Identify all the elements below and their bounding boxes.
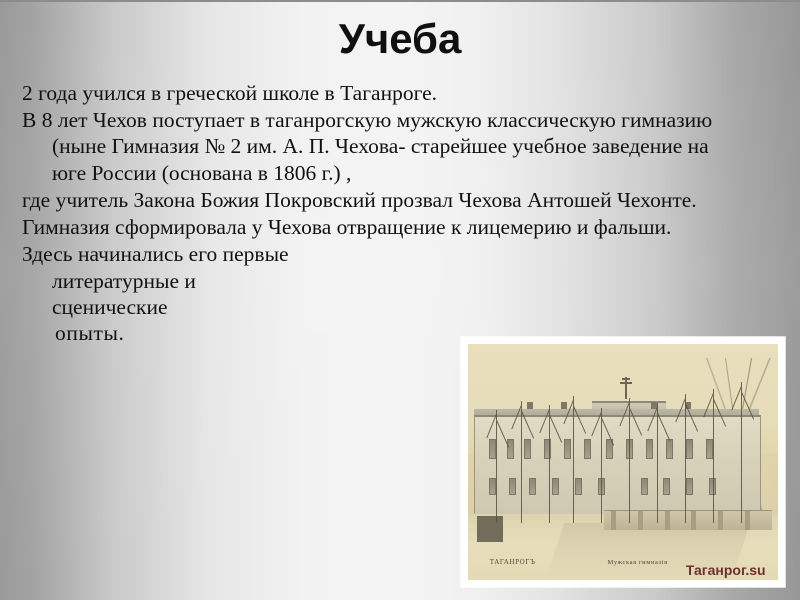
photo-tree	[549, 405, 550, 523]
slide-canvas: Учеба 2 года учился в греческой школе в …	[0, 0, 800, 600]
photo-window	[529, 478, 536, 495]
photo-window	[663, 478, 670, 495]
body-paragraph-3: где учитель Закона Божия Покровский проз…	[22, 187, 722, 213]
photo-window	[564, 439, 571, 459]
photo-tree	[657, 403, 658, 523]
photo-tree	[629, 398, 630, 523]
photo-frame: ТАГАНРОГЪ Мужская гимназія Таганрог.su	[461, 337, 785, 587]
photo-tree	[685, 394, 686, 524]
body-paragraph-5-line-3: сценические	[22, 294, 722, 320]
photo-fence-post	[638, 511, 643, 530]
photo-tree	[741, 382, 742, 524]
photo-window	[509, 478, 516, 495]
gymnasium-photo: ТАГАНРОГЪ Мужская гимназія Таганрог.su	[468, 344, 778, 580]
photo-tree	[496, 410, 497, 523]
photo-window	[666, 439, 673, 459]
photo-fence-post	[691, 511, 696, 530]
page-title: Учеба	[0, 16, 800, 62]
photo-watermark: Таганрог.su	[686, 562, 766, 578]
photo-fence-post	[745, 511, 750, 530]
photo-caption-left: ТАГАНРОГЪ	[490, 558, 536, 566]
photo-tree	[601, 408, 602, 524]
body-paragraph-4: Гимназия сформировала у Чехова отвращени…	[22, 214, 722, 240]
photo-fence-post	[665, 511, 670, 530]
photo-kiosk	[477, 516, 503, 542]
body-paragraph-1: 2 года учился в греческой школе в Таганр…	[22, 80, 722, 106]
photo-fence-post	[718, 511, 723, 530]
photo-tree	[521, 401, 522, 524]
photo-window	[552, 478, 559, 495]
photo-caption-middle: Мужская гимназія	[608, 559, 668, 566]
photo-window	[686, 439, 693, 459]
photo-tree	[713, 389, 714, 524]
photo-window	[686, 478, 693, 495]
photo-tree	[573, 396, 574, 523]
photo-window	[641, 478, 648, 495]
photo-window	[575, 478, 582, 495]
photo-window	[646, 439, 653, 459]
roof-cross-icon	[625, 377, 627, 399]
photo-building	[474, 415, 761, 516]
photo-window	[584, 439, 591, 459]
slide-body-text: 2 года учился в греческой школе в Таганр…	[22, 80, 722, 346]
body-paragraph-5-line-1: Здесь начинались его первые	[22, 241, 722, 267]
photo-window	[524, 439, 531, 459]
body-paragraph-2: В 8 лет Чехов поступает в таганрогскую м…	[22, 107, 722, 186]
photo-fence-post	[611, 511, 616, 530]
photo-window	[507, 439, 514, 459]
body-paragraph-5-line-2: литературные и	[22, 268, 722, 294]
